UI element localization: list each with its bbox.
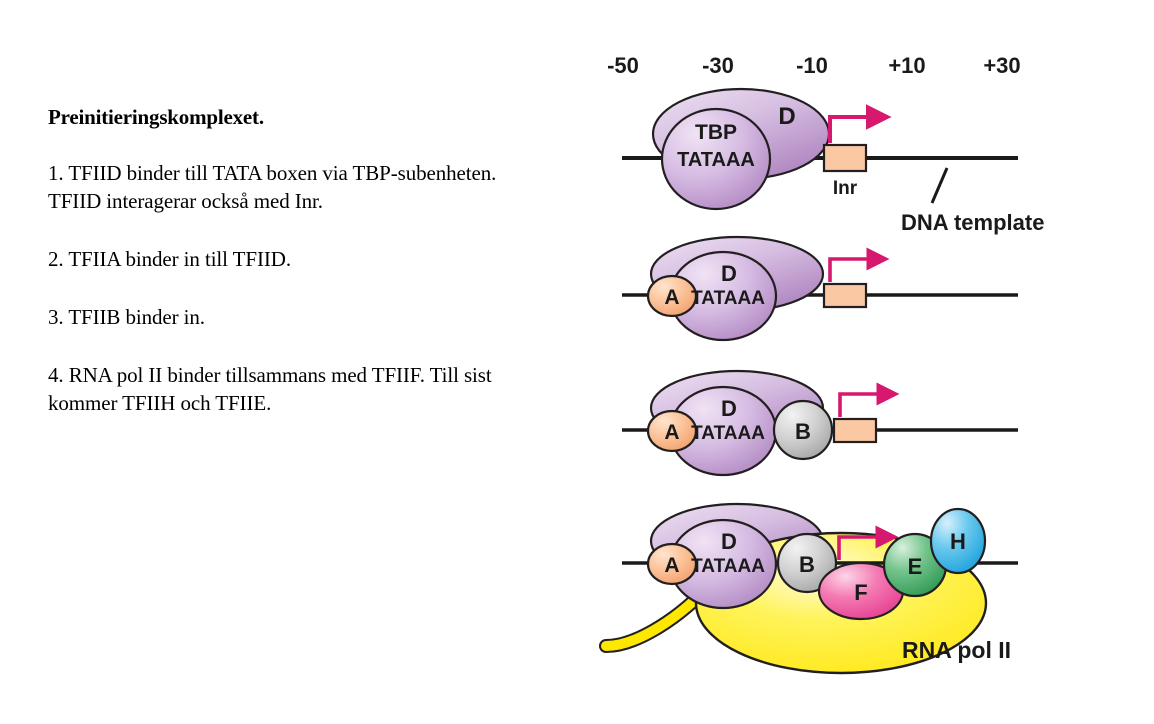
transcription-start-arrow — [840, 394, 880, 417]
label-tfiif-f: F — [854, 580, 867, 605]
scale-label-minus10: -10 — [796, 53, 828, 78]
step-1-text: 1. TFIID binder till TATA boxen via TBP-… — [48, 160, 548, 216]
panel-2: D TATAAA A — [622, 237, 1018, 340]
panel-1: D TBP TATAAA Inr DNA template — [622, 89, 1044, 235]
label-tata-box: TATAAA — [677, 149, 755, 171]
label-tata-box: TATAAA — [691, 423, 765, 444]
panel-3: D TATAAA A B — [622, 371, 1018, 475]
text-panel: Preinitieringskomplexet. 1. TFIID binder… — [48, 104, 548, 418]
label-tfiid-d: D — [721, 396, 737, 421]
inr-box — [834, 419, 876, 442]
panel-4: D TATAAA A B F E H RNA pol II — [606, 504, 1018, 673]
label-tfiie-e: E — [908, 554, 923, 579]
scale-label-plus10: +10 — [888, 53, 925, 78]
inr-box — [824, 284, 866, 307]
scale-label-minus30: -30 — [702, 53, 734, 78]
page-title: Preinitieringskomplexet. — [48, 104, 548, 130]
label-tfiid-d: D — [721, 529, 737, 554]
label-tfiid-d: D — [778, 103, 795, 130]
step-4-text: 4. RNA pol II binder tillsammans med TFI… — [48, 362, 548, 418]
step-3-text: 3. TFIIB binder in. — [48, 304, 548, 332]
scale-label-plus30: +30 — [983, 53, 1020, 78]
label-tfiib-b: B — [799, 552, 815, 577]
transcription-start-arrow — [830, 259, 870, 282]
label-inr: Inr — [833, 178, 858, 199]
label-tfiia-a: A — [664, 554, 679, 577]
label-tfiia-a: A — [664, 286, 679, 309]
label-rna-pol-ii: RNA pol II — [902, 637, 1011, 663]
label-tata-box: TATAAA — [691, 556, 765, 577]
transcription-start-arrow — [830, 117, 870, 143]
step-2-text: 2. TFIIA binder in till TFIID. — [48, 246, 548, 274]
inr-box — [824, 145, 866, 171]
scale-label-minus50: -50 — [607, 53, 639, 78]
label-tata-box: TATAAA — [691, 288, 765, 309]
label-tfiih-h: H — [950, 529, 966, 554]
label-tfiid-d: D — [721, 261, 737, 286]
preinitiation-complex-diagram: -50 -30 -10 +10 +30 D TBP TATAAA Inr DNA… — [596, 46, 1154, 686]
label-tfiib-b: B — [795, 419, 811, 444]
scale-ruler: -50 -30 -10 +10 +30 — [607, 53, 1021, 78]
dna-template-leader-line — [932, 168, 947, 203]
label-tfiia-a: A — [664, 421, 679, 444]
label-tbp: TBP — [695, 121, 737, 144]
label-dna-template: DNA template — [901, 210, 1044, 235]
